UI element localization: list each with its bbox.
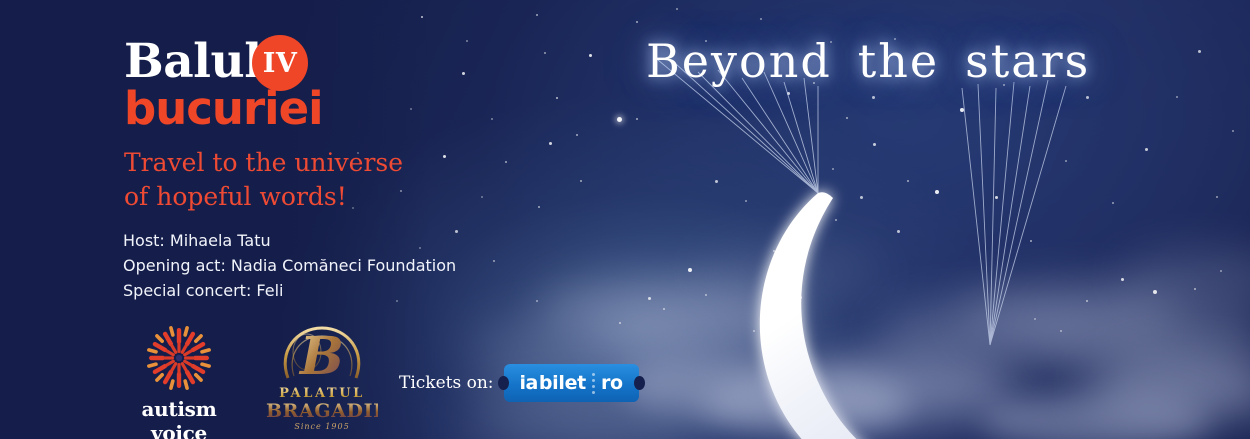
logo-bucuriei: bucuriei: [124, 85, 323, 133]
iabilet-brand-part-1: ia: [520, 372, 538, 394]
iabilet-brand-part-3: ro: [601, 372, 623, 394]
bragadiru-line-2: BRAGADIRU: [266, 401, 378, 421]
sponsor-palatul-bragadiru[interactable]: B PALATUL BRAGADIRU Since 1905: [266, 322, 378, 431]
bragadiru-line-3: Since 1905: [266, 422, 378, 431]
headline-word-2: the: [858, 34, 939, 88]
autism-voice-name: autism voice: [125, 397, 233, 439]
bragadiru-monogram-icon: B: [272, 322, 372, 388]
credits-block: Host: Mihaela Tatu Opening act: Nadia Co…: [123, 228, 456, 303]
headline-word-3: stars: [965, 34, 1090, 88]
headline-word-1: Beyond: [646, 34, 832, 88]
logo-line-1-row: Balul IV: [124, 36, 323, 88]
tickets-block: Tickets on: ia bilet ro: [399, 364, 639, 402]
sunburst-icon: [136, 322, 222, 394]
sponsor-autism-voice[interactable]: autism voice CUVINTE CARE DOBOARĂ ZIDURI: [125, 322, 233, 439]
iabilet-ticket-button[interactable]: ia bilet ro: [504, 364, 639, 402]
crescent-moon: [640, 150, 1060, 439]
bragadiru-line-1: PALATUL: [266, 386, 378, 401]
iabilet-brand-part-2: bilet: [539, 372, 586, 394]
tagline: Travel to the universe of hopeful words!: [124, 146, 403, 214]
credit-special-concert: Special concert: Feli: [123, 278, 456, 303]
edition-badge-label: IV: [263, 50, 298, 77]
credit-opening-act: Opening act: Nadia Comăneci Foundation: [123, 253, 456, 278]
tagline-line-2: of hopeful words!: [124, 180, 403, 214]
headline: Beyondthestars: [646, 34, 1090, 88]
credit-host: Host: Mihaela Tatu: [123, 228, 456, 253]
ticket-perforation-icon: [592, 373, 595, 394]
tickets-label: Tickets on:: [399, 373, 494, 393]
event-logo: Balul IV bucuriei: [124, 36, 323, 133]
svg-text:B: B: [298, 326, 344, 387]
event-banner: Beyondthestars Balul IV bucuriei Travel …: [0, 0, 1250, 439]
tagline-line-1: Travel to the universe: [124, 146, 403, 180]
